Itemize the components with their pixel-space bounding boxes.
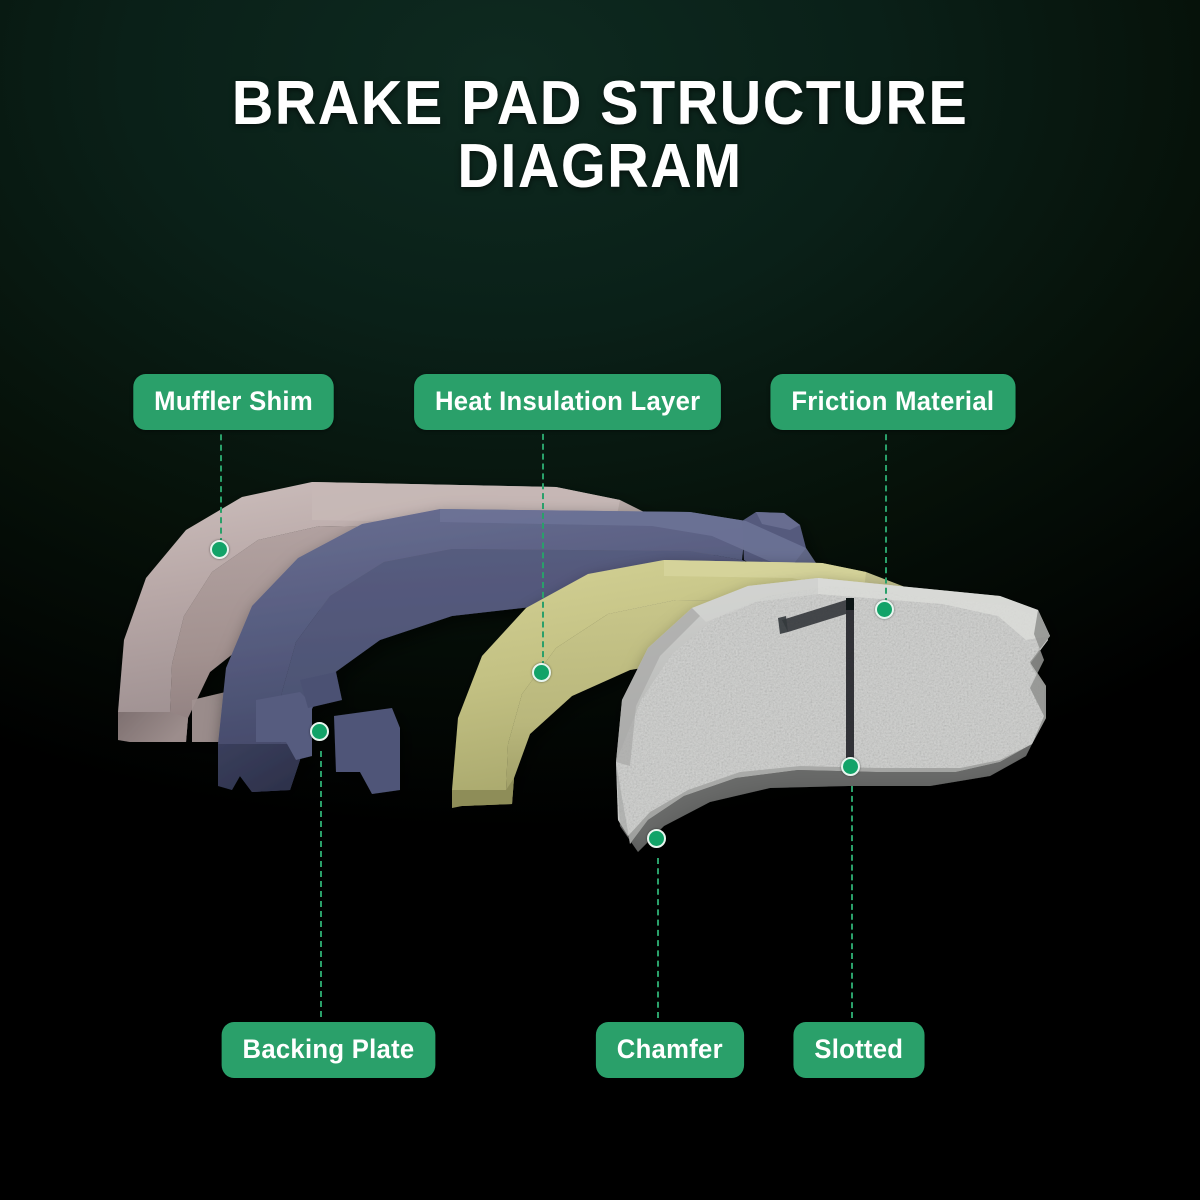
- callout-dot-chamfer[interactable]: [647, 829, 666, 848]
- callout-dot-friction-material[interactable]: [875, 600, 894, 619]
- leader-line-chamfer: [657, 858, 659, 1018]
- callout-dot-muffler-shim[interactable]: [210, 540, 229, 559]
- label-pill-backing-plate[interactable]: Backing Plate: [222, 1022, 436, 1078]
- brake-pad-structure-poster: BRAKE PAD STRUCTURE DIAGRAM Muffler Shim…: [0, 0, 1200, 1200]
- title-line-1: BRAKE PAD STRUCTURE: [42, 72, 1158, 135]
- leader-line-backing-plate: [320, 751, 322, 1017]
- leader-line-slotted: [851, 786, 853, 1018]
- callout-dot-heat-insulation-layer[interactable]: [532, 663, 551, 682]
- label-pill-heat-insulation-layer[interactable]: Heat Insulation Layer: [414, 374, 721, 430]
- leader-line-heat-insulation-layer: [542, 424, 544, 667]
- label-pill-slotted[interactable]: Slotted: [793, 1022, 924, 1078]
- label-pill-muffler-shim[interactable]: Muffler Shim: [133, 374, 334, 430]
- leader-line-muffler-shim: [220, 424, 222, 544]
- callout-dot-backing-plate[interactable]: [310, 722, 329, 741]
- page-title: BRAKE PAD STRUCTURE DIAGRAM: [0, 72, 1200, 198]
- label-pill-friction-material[interactable]: Friction Material: [770, 374, 1015, 430]
- title-line-2: DIAGRAM: [42, 135, 1158, 198]
- callout-dot-slotted[interactable]: [841, 757, 860, 776]
- label-pill-chamfer[interactable]: Chamfer: [596, 1022, 744, 1078]
- leader-line-friction-material: [885, 424, 887, 604]
